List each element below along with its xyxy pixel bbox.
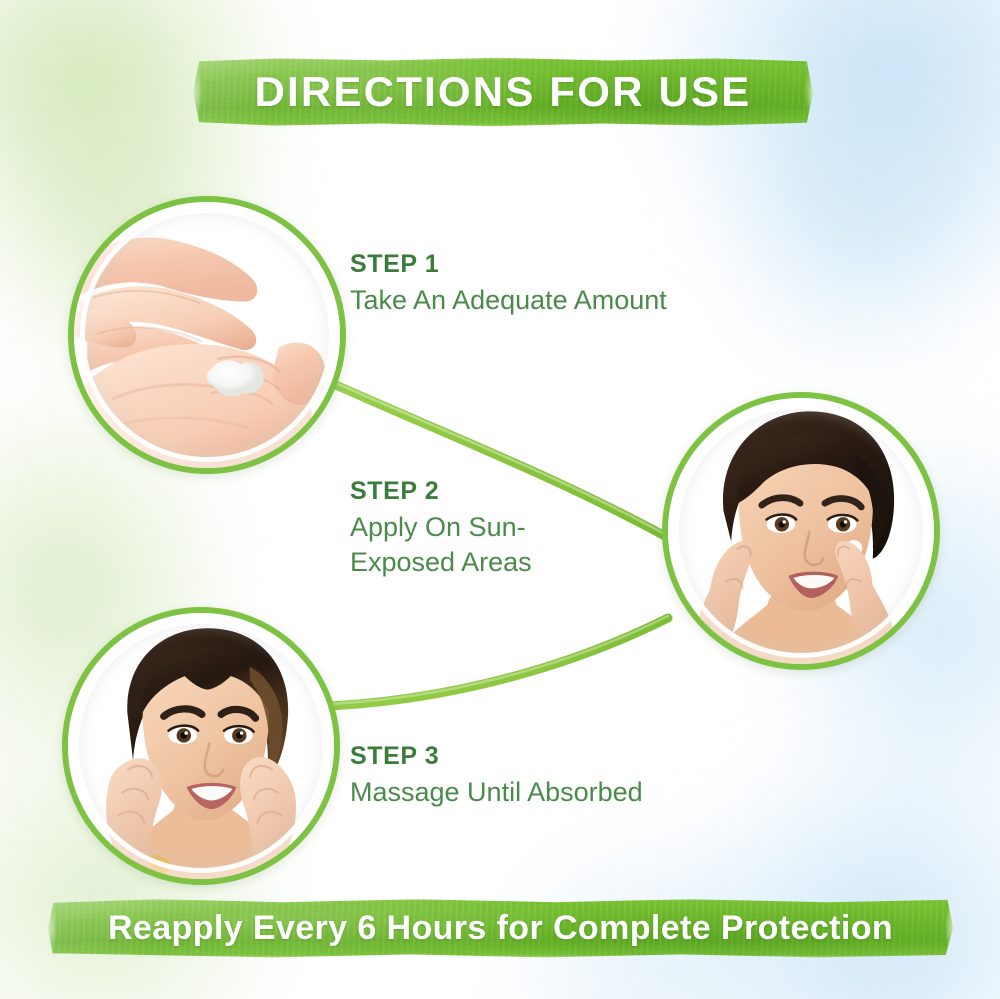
step-2-text: STEP 2 Apply On Sun- Exposed Areas <box>350 477 680 579</box>
step-2-title: STEP 2 <box>350 477 680 506</box>
page-title: DIRECTIONS FOR USE <box>255 68 752 116</box>
footer-banner: Reapply Every 6 Hours for Complete Prote… <box>48 898 953 958</box>
step-3-title: STEP 3 <box>350 742 770 771</box>
step-3-description: Massage Until Absorbed <box>350 775 770 810</box>
footer-text: Reapply Every 6 Hours for Complete Prote… <box>108 909 893 948</box>
step-2-description: Apply On Sun- Exposed Areas <box>350 510 680 579</box>
woman-applying-cream-to-face-photo <box>668 398 934 664</box>
step-1-description: Take An Adequate Amount <box>350 283 770 318</box>
step-1-text: STEP 1 Take An Adequate Amount <box>350 250 770 318</box>
step-3-photo <box>62 607 340 885</box>
directions-for-use-poster: DIRECTIONS FOR USE <box>0 0 1000 999</box>
connector-step2-to-step3-highlight <box>330 616 668 704</box>
step-2-photo <box>662 392 940 670</box>
hands-with-cream-photo <box>74 202 340 468</box>
step-3-text: STEP 3 Massage Until Absorbed <box>350 742 770 810</box>
page-title-banner: DIRECTIONS FOR USE <box>193 57 813 127</box>
woman-massaging-face-photo <box>68 613 334 879</box>
step-1-photo <box>68 196 346 474</box>
connector-step2-to-step3 <box>330 618 668 706</box>
step-1-title: STEP 1 <box>350 250 770 279</box>
